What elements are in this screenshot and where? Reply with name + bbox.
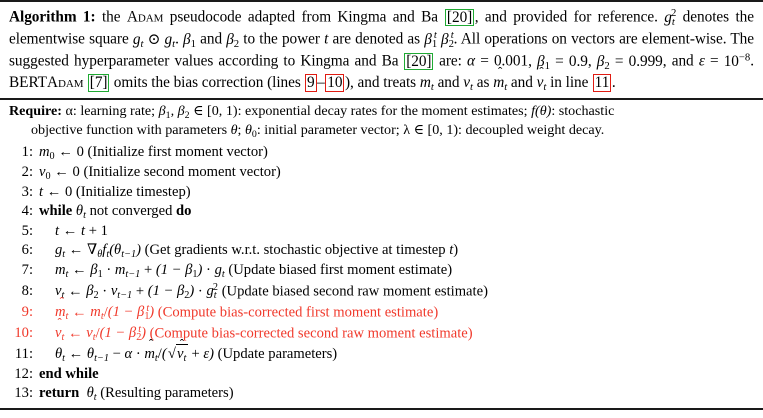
require-text-2a: objective function with parameters <box>31 122 231 138</box>
math-theta-0: θ0 <box>245 122 257 138</box>
line-number-8: 8: <box>9 282 33 301</box>
line-comment-2: (Initialize second moment vector) <box>83 164 280 180</box>
line-content-9: ̂mt ← mt/(1 − β1t) (Compute bias-correct… <box>33 302 438 323</box>
line-number-4: 4: <box>9 202 33 221</box>
line-number-6: 6: <box>9 241 33 260</box>
require-block: Require: α: learning rate; β1, β2 ∈ [0, … <box>0 100 763 142</box>
math-g-t-squared: gt2 <box>664 9 676 26</box>
caption-text-13: ), and treats <box>345 74 420 91</box>
keyword-end-while: end while <box>39 366 99 382</box>
algorithm-label: Algorithm 1: <box>9 9 96 26</box>
line-number-5: 5: <box>9 222 33 241</box>
line-comment-6: (Get gradients w.r.t. stochastic objecti… <box>145 242 450 258</box>
caption-text-2: pseudocode adapted from Kingma and Ba <box>163 9 444 26</box>
line-content-7: mt ← β1 · mt−1 + (1 − β1) · gt (Update b… <box>33 261 452 281</box>
require-label: Require: <box>9 103 62 119</box>
math-beta2-value: β2 = 0.999 <box>597 53 663 70</box>
math-theta: θ <box>231 122 238 138</box>
line-content-13: return θt (Resulting parameters) <box>33 384 234 404</box>
math-beta-2-t: β2t <box>441 31 454 48</box>
math-m-hat-t: ̂mt <box>493 73 507 94</box>
algorithm-line-7: 7: mt ← β1 · mt−1 + (1 − β1) · gt (Updat… <box>9 261 754 281</box>
math-f-theta: f(θ) <box>531 103 551 119</box>
bertadam-suffix: Adam <box>47 74 84 91</box>
citation-20-second[interactable]: [20] <box>404 53 433 71</box>
citation-20-first[interactable]: [20] <box>445 9 474 27</box>
line-ref-11[interactable]: 11 <box>593 74 612 92</box>
line-number-3: 3: <box>9 183 33 202</box>
caption-text-14: and <box>434 74 464 91</box>
line-content-5: t ← t + 1 <box>33 222 108 241</box>
caption-text-5: . <box>175 31 183 48</box>
line-content-11: θt ← θt−1 − α · ̂mt/(√̂vt + ε) (Update p… <box>33 344 337 365</box>
line-comment-13: (Resulting parameters) <box>100 385 233 401</box>
caption-text-6: and <box>196 31 226 48</box>
algorithm-line-12: 12: end while <box>9 365 754 384</box>
line-content-2: v0 ← 0 (Initialize second moment vector) <box>33 163 281 183</box>
caption-text-3: , and provided for reference. <box>475 9 665 26</box>
line-content-4: while θt not converged do <box>33 202 191 222</box>
line-comment-7: (Update biased first moment estimate) <box>228 262 452 278</box>
caption-text-10: are: <box>434 53 467 70</box>
line-content-3: t ← 0 (Initialize timestep) <box>33 183 191 202</box>
require-line-2: objective function with parameters θ; θ0… <box>9 122 754 141</box>
math-beta-1-t: β1t <box>424 31 437 48</box>
algorithm-line-5: 5: t ← t + 1 <box>9 222 754 241</box>
math-m-t: mt <box>420 74 434 91</box>
line-4-text: not converged <box>86 203 176 219</box>
require-text-2c: : initial parameter vector; λ ∈ [0, 1): … <box>257 122 604 138</box>
caption-text-18: . <box>612 74 616 91</box>
line-content-10: ̂vt ← vt/(1 − β2t) (Compute bias-correct… <box>33 323 473 344</box>
algorithm-line-10: 10: ̂vt ← vt/(1 − β2t) (Compute bias-cor… <box>9 323 754 344</box>
caption-text-16: and <box>507 74 537 91</box>
algorithm-line-2: 2: v0 ← 0 (Initialize second moment vect… <box>9 163 754 183</box>
line-comment-8: (Update biased second raw moment estimat… <box>222 283 488 299</box>
caption-text-8: are denoted as <box>328 31 424 48</box>
line-ref-10[interactable]: 10 <box>325 74 344 92</box>
algorithm-line-9: 9: ̂mt ← mt/(1 − β1t) (Compute bias-corr… <box>9 302 754 323</box>
algorithm-line-3: 3: t ← 0 (Initialize timestep) <box>9 183 754 202</box>
line-number-13: 13: <box>9 384 33 403</box>
bertadam-prefix: BERT <box>9 74 47 91</box>
caption-text-12: omits the bias correction (lines <box>110 74 305 91</box>
citation-7[interactable]: [7] <box>88 74 110 92</box>
math-beta1-beta2: β1, β2 <box>159 103 190 119</box>
line-ref-9[interactable]: 9 <box>305 74 317 92</box>
line-content-8: vt ← β2 · vt−1 + (1 − β2) · gt2 (Update … <box>33 281 488 302</box>
line-number-7: 7: <box>9 261 33 280</box>
math-beta-1: β1 <box>183 31 196 48</box>
caption-text-17: in line <box>546 74 592 91</box>
require-text-1b: ∈ [0, 1): exponential decay rates for th… <box>190 103 532 119</box>
line-comment-9: (Compute bias-corrected first moment est… <box>158 304 438 320</box>
keyword-while: while <box>39 203 72 219</box>
caption-text-15: as <box>473 74 493 91</box>
bottom-rule <box>0 408 763 410</box>
algorithm-steps: 1: m0 ← 0 (Initialize first moment vecto… <box>0 142 763 407</box>
line-number-1: 1: <box>9 143 33 162</box>
caption-text-1: the <box>96 9 127 26</box>
line-number-10: 10: <box>9 324 33 343</box>
require-text-1c: : stochastic <box>551 103 614 119</box>
algorithm-line-1: 1: m0 ← 0 (Initialize first moment vecto… <box>9 143 754 163</box>
line-comment-1: (Initialize first moment vector) <box>88 144 268 160</box>
keyword-do: do <box>176 203 191 219</box>
line-comment-3: (Initialize timestep) <box>76 184 191 200</box>
line-comment-11: (Update parameters) <box>218 346 338 362</box>
algorithm-line-13: 13: return θt (Resulting parameters) <box>9 384 754 404</box>
math-alpha-value: α = 0.001 <box>467 53 528 70</box>
algorithm-line-4: 4: while θt not converged do <box>9 202 754 222</box>
math-v-t: vt <box>463 74 473 91</box>
line-number-9: 9: <box>9 303 33 322</box>
line-content-1: m0 ← 0 (Initialize first moment vector) <box>33 143 268 163</box>
algorithm-figure: Algorithm 1: the Adam pseudocode adapted… <box>0 0 763 418</box>
algorithm-caption: Algorithm 1: the Adam pseudocode adapted… <box>0 2 763 98</box>
algorithm-line-8: 8: vt ← β2 · vt−1 + (1 − β2) · gt2 (Upda… <box>9 281 754 302</box>
caption-text-7: to the power <box>239 31 324 48</box>
line-comment-10: (Compute bias-corrected second raw momen… <box>150 325 473 341</box>
math-v-hat-t: ̂vt <box>537 73 547 94</box>
adam-name: Adam <box>127 9 164 26</box>
require-text-1a: α: learning rate; <box>62 103 159 119</box>
math-beta1-value: β1 = 0.9 <box>537 53 588 70</box>
math-beta-2: β2 <box>226 31 239 48</box>
line-ref-dash: – <box>317 74 325 91</box>
caption-text-11: . <box>750 53 754 70</box>
line-number-2: 2: <box>9 163 33 182</box>
require-text-2b: ; <box>238 122 245 138</box>
math-g-t-odot: gt ⊙ gt <box>133 31 175 48</box>
line-number-12: 12: <box>9 365 33 384</box>
keyword-return: return <box>39 385 79 401</box>
math-epsilon-value: ε = 10−8 <box>699 53 750 70</box>
line-content-6: gt ← ∇θft(θt−1) (Get gradients w.r.t. st… <box>33 241 458 261</box>
algorithm-line-6: 6: gt ← ∇θft(θt−1) (Get gradients w.r.t.… <box>9 241 754 261</box>
algorithm-line-11: 11: θt ← θt−1 − α · ̂mt/(√̂vt + ε) (Upda… <box>9 344 754 365</box>
line-number-11: 11: <box>9 345 33 364</box>
line-content-12: end while <box>33 365 99 384</box>
